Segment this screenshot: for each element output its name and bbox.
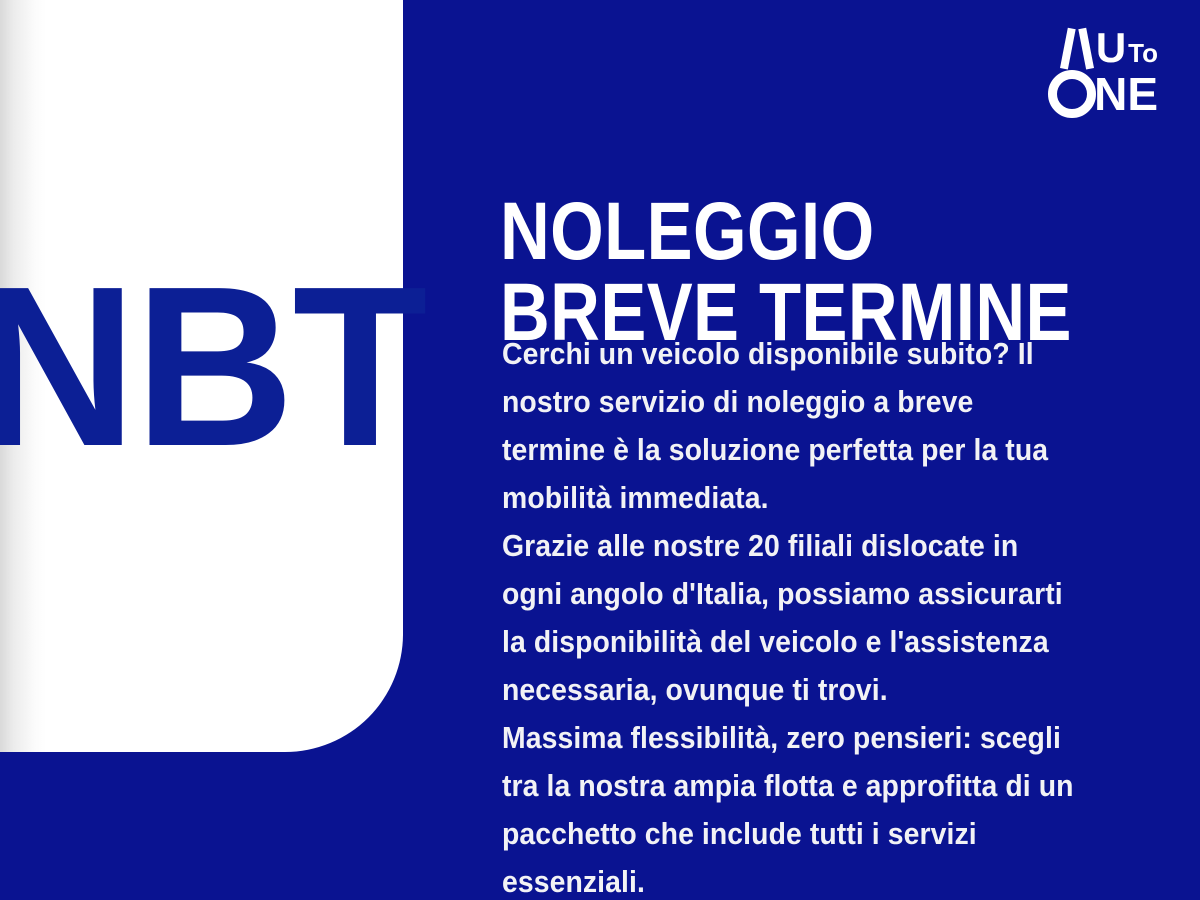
logo-line-auto: U To <box>1048 28 1158 68</box>
promo-banner: NBT U To NE NOLEGGIO BREVE TERMINE Cerch… <box>0 0 1200 900</box>
content-column: NOLEGGIO BREVE TERMINE Cerchi un veicolo… <box>500 0 1160 900</box>
nbt-label: NBT <box>0 279 426 457</box>
nbt-badge: NBT <box>0 0 403 752</box>
logo-o-ring-icon <box>1048 70 1096 118</box>
logo-to-letters: To <box>1128 40 1158 66</box>
body-paragraph-2: Grazie alle nostre 20 filiali dislocate … <box>502 522 1083 714</box>
logo-u-letter: U <box>1096 28 1126 68</box>
logo-a-glyph-icon <box>1057 28 1097 68</box>
logo-ne-letters: NE <box>1094 74 1158 115</box>
headline-line-1: NOLEGGIO <box>500 191 1072 272</box>
logo-line-one: NE <box>1048 70 1158 118</box>
body-copy: Cerchi un veicolo disponibile subito? Il… <box>502 330 1083 900</box>
page-title: NOLEGGIO BREVE TERMINE <box>500 191 1072 353</box>
auto-one-logo: U To NE <box>1048 28 1158 118</box>
body-paragraph-1: Cerchi un veicolo disponibile subito? Il… <box>502 330 1083 522</box>
body-paragraph-3: Massima flessibilità, zero pensieri: sce… <box>502 714 1083 900</box>
